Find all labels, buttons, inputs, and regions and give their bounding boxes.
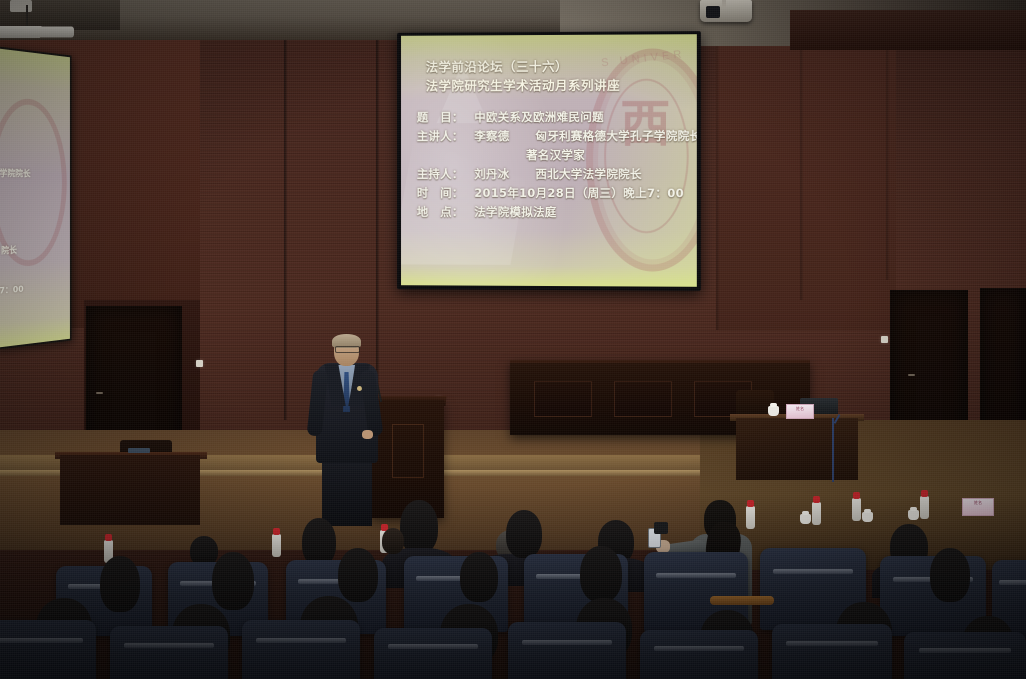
seat[interactable] [242, 620, 360, 679]
slide-title-line-1: 法学前沿论坛（三十六） [417, 56, 689, 76]
presider-table [736, 418, 858, 480]
water-bottle [852, 498, 861, 521]
teacup [768, 406, 779, 416]
speaker-person [312, 336, 386, 526]
slide-value-host: 刘丹冰 [474, 165, 509, 184]
seat[interactable] [508, 622, 626, 679]
teacup [908, 510, 919, 520]
wall-seam [284, 0, 287, 420]
slide-value-speaker-title: 匈牙利赛格德大学孔子学院院长 [535, 127, 696, 146]
slide-text-block: 法学前沿论坛（三十六） 法学院研究生学术活动月系列讲座 题 目： 中欧关系及欧洲… [417, 56, 689, 222]
power-cable [832, 418, 834, 482]
audience-head [382, 528, 404, 554]
slide-value-time: 2015年10月28日（周三）晚上7：00 [474, 184, 684, 203]
slide-title-line-2: 法学院研究生学术活动月系列讲座 [417, 75, 689, 95]
teacup [800, 514, 811, 524]
seat[interactable] [904, 632, 1026, 679]
seat[interactable] [772, 624, 892, 679]
water-bottle [812, 502, 821, 525]
camera-icon[interactable] [654, 522, 668, 534]
audience-head [930, 548, 970, 602]
slide-label-host: 主持人： [417, 165, 474, 184]
audience-head [400, 500, 438, 554]
seat-armrest [710, 596, 774, 605]
speaker-legs [322, 458, 372, 526]
side-projection-screen: 学院院长 院长 7：00 [0, 46, 71, 350]
teacup [862, 512, 873, 522]
water-bottle [272, 534, 281, 557]
side-screen-text: 7：00 [0, 282, 24, 297]
projector-mount [722, 0, 726, 8]
seat[interactable] [0, 620, 96, 679]
audience-head [338, 548, 378, 602]
podium-inset-panel [392, 424, 424, 478]
projection-screen-frame: S UNIVER 西 法学前沿论坛（三十六） 法学院研究生学术活动月系列讲座 题… [397, 31, 701, 291]
audience-head [460, 552, 498, 602]
projection-screen-surface: S UNIVER 西 法学前沿论坛（三十六） 法学院研究生学术活动月系列讲座 题… [401, 34, 697, 287]
slide-value-sinologist: 著名汉学家 [526, 146, 585, 165]
wall-panel [716, 30, 896, 330]
name-card: 姓名 [786, 404, 814, 419]
control-table [60, 455, 200, 525]
ceiling-beam [790, 10, 1026, 50]
bench-panel [614, 381, 672, 417]
slide-label-time: 时 间： [417, 184, 474, 203]
slide-value-speaker: 李察德 [474, 127, 509, 146]
slide-row-time: 时 间： 2015年10月28日（周三）晚上7：00 [417, 184, 689, 203]
audience-head [580, 546, 622, 602]
light-switch-left[interactable] [196, 360, 203, 367]
bench-panel [534, 381, 592, 417]
slide-value-topic: 中欧关系及欧洲难民问题 [474, 108, 604, 127]
audience-head [506, 510, 542, 558]
slide-row-topic: 题 目： 中欧关系及欧洲难民问题 [417, 108, 689, 128]
slide-value-host-title: 西北大学法学院院长 [535, 165, 641, 184]
screen-roller-housing [10, 0, 32, 12]
slide-row-speaker: 主讲人： 李察德 匈牙利赛格德大学孔子学院院长 [417, 127, 689, 146]
side-screen-text: 院长 [1, 243, 17, 257]
seat[interactable] [640, 630, 758, 679]
slide-row-speaker-title2: 著名汉学家 [417, 146, 689, 165]
slide-label-speaker: 主讲人： [417, 127, 474, 146]
audience-head [302, 518, 336, 566]
name-card: 姓名 [962, 498, 994, 516]
light-switch-right[interactable] [881, 336, 888, 343]
water-bottle [920, 496, 929, 519]
slide-body: 题 目： 中欧关系及欧洲难民问题 主讲人： 李察德 匈牙利赛格德大学孔子学院院长… [417, 108, 689, 223]
auditorium-photo: 学院院长 院长 7：00 S UNIVER 西 法学前沿论坛（三十六） 法学院研… [0, 0, 1026, 679]
speaker-hand [362, 430, 373, 439]
screen-roller [0, 26, 74, 38]
seat[interactable] [374, 628, 492, 679]
audience-head [100, 556, 140, 612]
door-handle-right[interactable] [908, 374, 915, 376]
glasses-icon [335, 346, 360, 353]
slide-value-place: 法学院模拟法庭 [474, 203, 556, 222]
side-screen-text: 学院院长 [0, 166, 31, 179]
door-handle-left[interactable] [96, 392, 103, 394]
slide-row-place: 地 点： 法学院模拟法庭 [417, 203, 689, 223]
slide-row-host: 主持人： 刘丹冰 西北大学法学院院长 [417, 165, 689, 184]
seat[interactable] [110, 626, 228, 679]
audience-head [212, 552, 254, 610]
av-equipment[interactable] [128, 448, 150, 453]
slide-label-topic: 题 目： [417, 108, 474, 127]
projector-lens-icon [706, 6, 720, 18]
slide-label-place: 地 点： [417, 203, 474, 222]
